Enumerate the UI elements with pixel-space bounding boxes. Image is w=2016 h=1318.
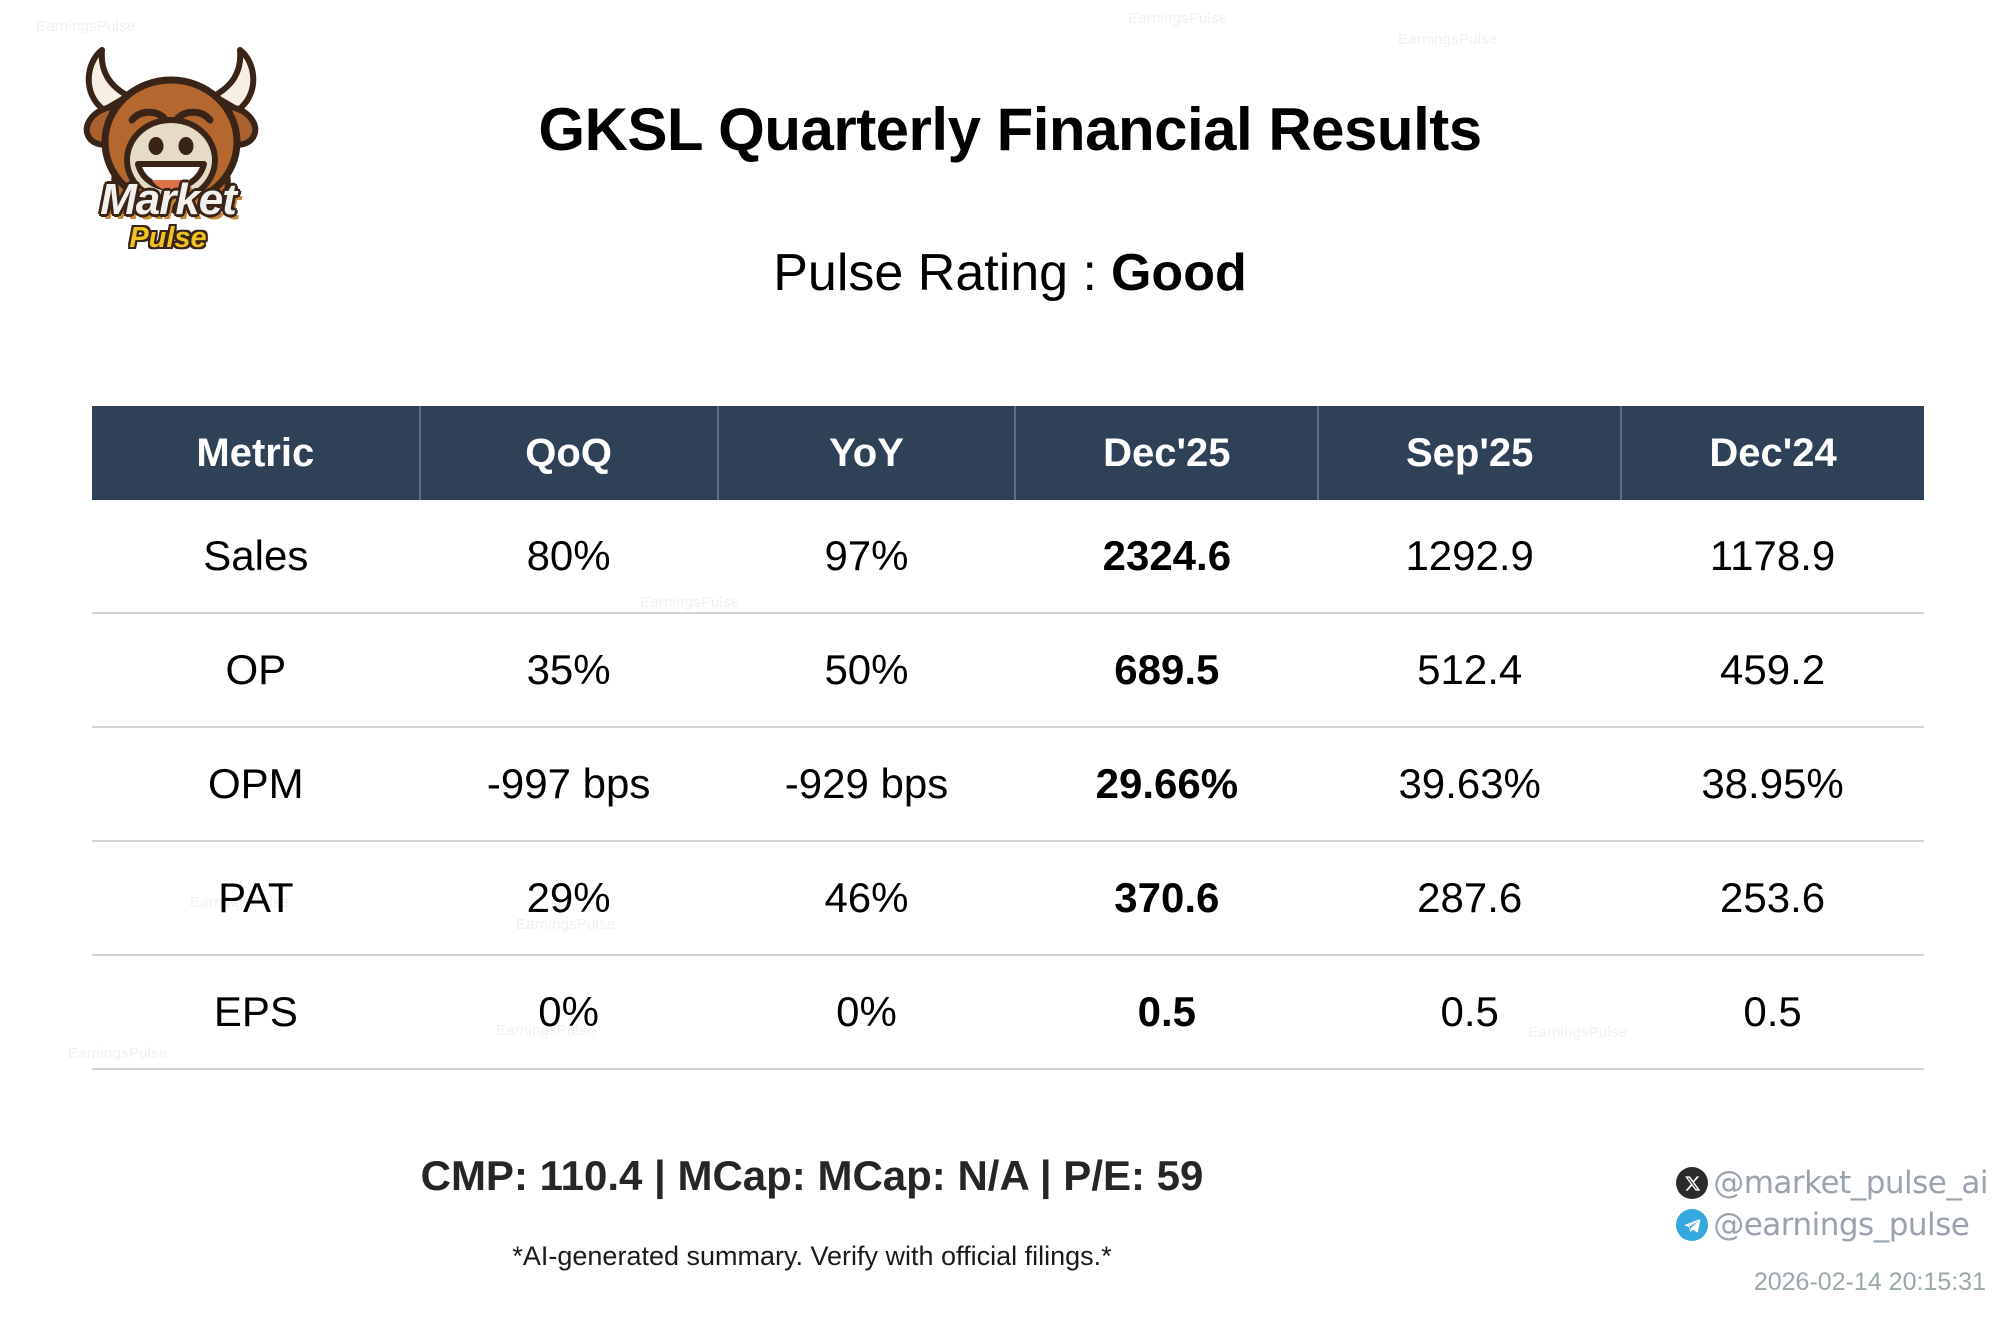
watermark: EarningsPulse (36, 18, 135, 35)
cell-year-ago-quarter: 38.95% (1621, 727, 1924, 841)
column-header-yoy: YoY (718, 406, 1016, 500)
column-header-prev1: Sep'25 (1318, 406, 1621, 500)
logo-market-text: Market (58, 178, 278, 222)
cell-current-quarter: 0.5 (1015, 955, 1318, 1069)
disclaimer-text: *AI-generated summary. Verify with offic… (92, 1241, 1532, 1272)
watermark: EarningsPulse (1128, 10, 1227, 27)
cell-year-ago-quarter: 0.5 (1621, 955, 1924, 1069)
social-handle-telegram: @earnings_pulse (1713, 1207, 1969, 1243)
cell-yoy: 97% (718, 500, 1016, 613)
cell-year-ago-quarter: 459.2 (1621, 613, 1924, 727)
cell-current-quarter: 370.6 (1015, 841, 1318, 955)
table-row: PAT29%46%370.6287.6253.6 (92, 841, 1924, 955)
logo-wordmark: Market Pulse (58, 178, 278, 253)
x-twitter-icon (1676, 1167, 1708, 1199)
social-handle-x: @market_pulse_ai (1713, 1165, 1988, 1201)
page-title: GKSL Quarterly Financial Results (280, 95, 1740, 164)
social-handles: @market_pulse_ai @earnings_pulse (1676, 1163, 1988, 1247)
cell-yoy: -929 bps (718, 727, 1016, 841)
cell-year-ago-quarter: 1178.9 (1621, 500, 1924, 613)
cell-yoy: 50% (718, 613, 1016, 727)
pulse-rating-value: Good (1111, 244, 1247, 302)
column-header-prev2: Dec'24 (1621, 406, 1924, 500)
pulse-rating-label: Pulse Rating : (773, 244, 1097, 302)
logo-pulse-text: Pulse (58, 224, 278, 253)
cell-year-ago-quarter: 253.6 (1621, 841, 1924, 955)
cell-yoy: 46% (718, 841, 1016, 955)
cell-qoq: 80% (420, 500, 718, 613)
pulse-rating: Pulse Rating :Good (280, 247, 1740, 299)
cell-metric-name: Sales (92, 500, 420, 613)
cell-prev-quarter: 0.5 (1318, 955, 1621, 1069)
cell-yoy: 0% (718, 955, 1016, 1069)
watermark: EarningsPulse (1398, 31, 1497, 48)
financial-results-table: Metric QoQ YoY Dec'25 Sep'25 Dec'24 Sale… (92, 406, 1924, 1070)
cell-metric-name: PAT (92, 841, 420, 955)
cell-metric-name: OPM (92, 727, 420, 841)
table-header-row: Metric QoQ YoY Dec'25 Sep'25 Dec'24 (92, 406, 1924, 500)
cmp-mcap-pe-line: CMP: 110.4 | MCap: MCap: N/A | P/E: 59 (92, 1152, 1532, 1200)
cell-prev-quarter: 287.6 (1318, 841, 1621, 955)
cell-prev-quarter: 512.4 (1318, 613, 1621, 727)
cell-metric-name: EPS (92, 955, 420, 1069)
column-header-current: Dec'25 (1015, 406, 1318, 500)
cell-prev-quarter: 39.63% (1318, 727, 1621, 841)
generated-timestamp: 2026-02-14 20:15:31 (1754, 1268, 1986, 1297)
column-header-metric: Metric (92, 406, 420, 500)
cell-qoq: 35% (420, 613, 718, 727)
table-row: Sales80%97%2324.61292.91178.9 (92, 500, 1924, 613)
cell-current-quarter: 2324.6 (1015, 500, 1318, 613)
table-row: EPS0%0%0.50.50.5 (92, 955, 1924, 1069)
cell-prev-quarter: 1292.9 (1318, 500, 1621, 613)
table-row: OP35%50%689.5512.4459.2 (92, 613, 1924, 727)
brand-logo: Market Pulse (58, 38, 278, 263)
column-header-qoq: QoQ (420, 406, 718, 500)
table-row: OPM-997 bps-929 bps29.66%39.63%38.95% (92, 727, 1924, 841)
cell-qoq: 0% (420, 955, 718, 1069)
social-row-x[interactable]: @market_pulse_ai (1676, 1163, 1988, 1203)
cell-qoq: 29% (420, 841, 718, 955)
cell-metric-name: OP (92, 613, 420, 727)
social-row-telegram[interactable]: @earnings_pulse (1676, 1205, 1988, 1245)
cell-current-quarter: 29.66% (1015, 727, 1318, 841)
cell-current-quarter: 689.5 (1015, 613, 1318, 727)
cell-qoq: -997 bps (420, 727, 718, 841)
telegram-icon (1676, 1209, 1708, 1241)
